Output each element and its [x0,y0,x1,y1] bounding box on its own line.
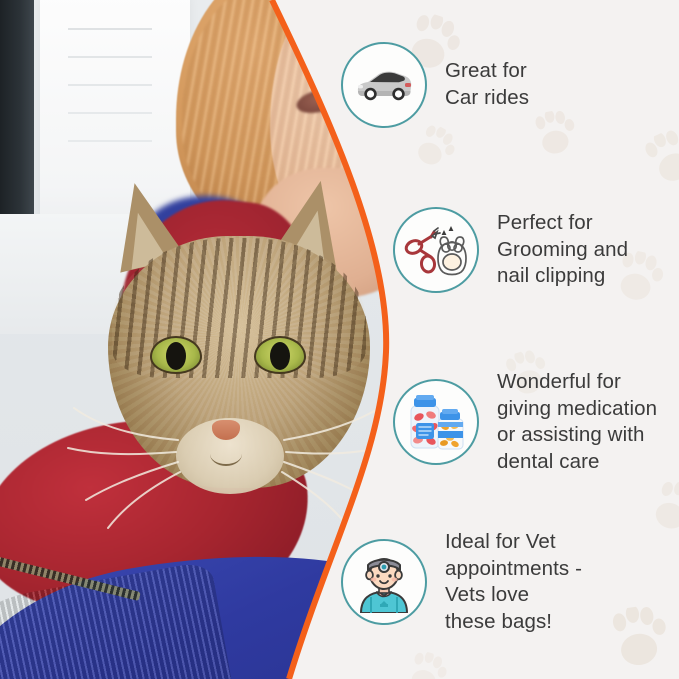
medicine-bottles-icon [405,393,467,451]
feature-item-grooming[interactable]: Perfect for Grooming and nail clipping [393,207,628,293]
feature-label: Wonderful for giving medication or assis… [497,369,657,476]
feature-icon-ring [393,379,479,465]
feature-label: Ideal for Vet appointments - Vets love t… [445,529,582,636]
feature-item-car-rides[interactable]: Great for Car rides [341,42,529,128]
feature-icon-ring [341,539,427,625]
feature-icon-ring [393,207,479,293]
feature-label: Perfect for Grooming and nail clipping [497,210,628,290]
feature-list: Great for Car rides [0,0,679,679]
feature-item-medication[interactable]: Wonderful for giving medication or assis… [393,369,657,476]
nail-clipper-paw-icon [404,220,468,280]
feature-label: Great for Car rides [445,58,529,111]
veterinarian-icon [355,551,413,613]
feature-item-vet[interactable]: Ideal for Vet appointments - Vets love t… [341,529,582,636]
infographic-canvas: Great for Car rides [0,0,679,679]
car-icon [353,63,415,107]
feature-icon-ring [341,42,427,128]
